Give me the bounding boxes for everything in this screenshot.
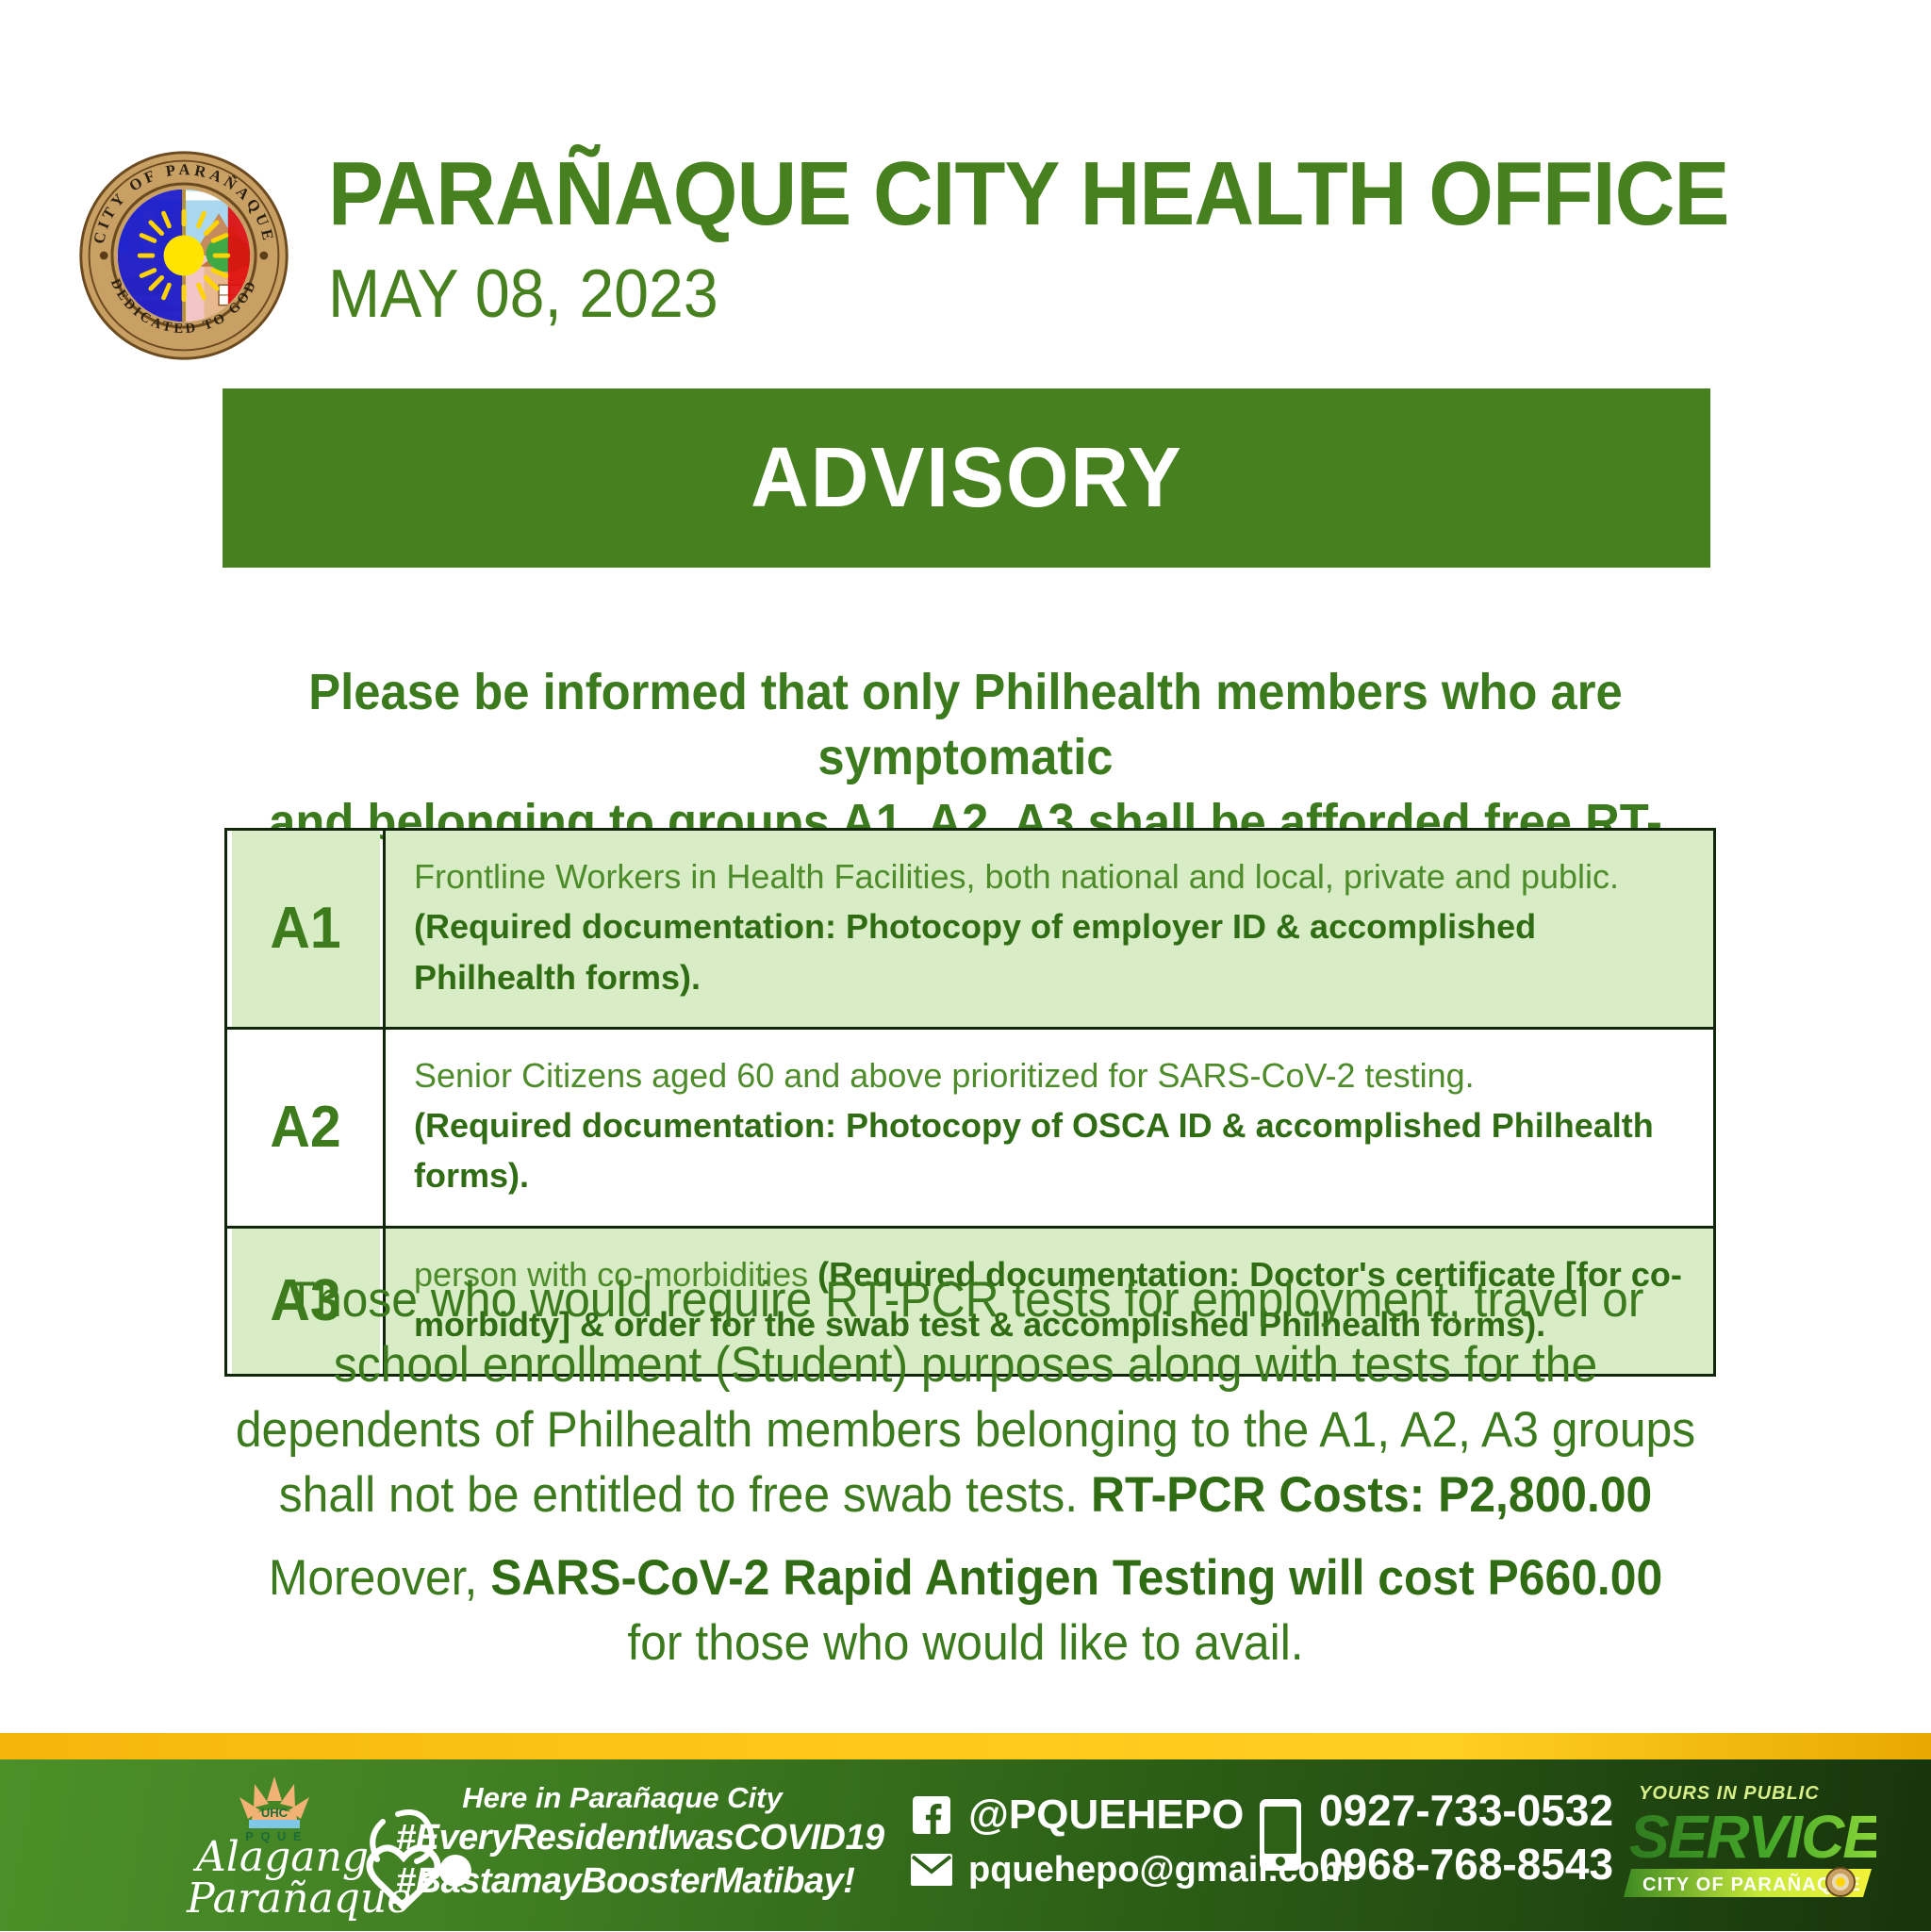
exclusion-paragraph: Those who would require RT-PCR tests for… xyxy=(218,1268,1714,1528)
hashtag-basta-may-booster: #BastamayBoosterMatibay! xyxy=(396,1859,849,1903)
city-seal-icon: CITY OF PARAÑAQUE DEDICATED TO GOD xyxy=(74,143,294,368)
phone-number-2: 0968-768-8543 xyxy=(1319,1840,1613,1889)
mobile-phone-icon xyxy=(1259,1798,1302,1876)
phone-numbers: 0927-733-0532 0968-768-8543 xyxy=(1319,1784,1613,1891)
envelope-icon xyxy=(910,1848,953,1891)
footer-gold-stripe xyxy=(0,1733,1931,1759)
table-row: A2 Senior Citizens aged 60 and above pri… xyxy=(226,1028,1715,1227)
service-tagline: YOURS IN PUBLIC xyxy=(1639,1783,1820,1804)
uhc-label: UHC xyxy=(261,1806,289,1820)
page-header: CITY OF PARAÑAQUE DEDICATED TO GOD PARAÑ… xyxy=(0,0,1931,377)
antigen-cost-text: SARS-CoV-2 Rapid Antigen Testing will co… xyxy=(490,1550,1662,1606)
footer-content: UHC P Q U E Alagang Parañaque Here in Pa… xyxy=(0,1759,1931,1931)
advisory-banner: ADVISORY xyxy=(223,388,1710,568)
group-desc-a2-regular: Senior Citizens aged 60 and above priori… xyxy=(414,1056,1475,1095)
service-logo-icon: YOURS IN PUBLIC SERVICE CITY OF PARAÑAQU… xyxy=(1622,1775,1876,1916)
advisory-banner-label: ADVISORY xyxy=(751,430,1183,527)
hashtag-every-resident: #EveryResidentIwasCOVID19 xyxy=(396,1816,849,1859)
antigen-paragraph-suffix: for those who would like to avail. xyxy=(627,1615,1303,1671)
facebook-handle: @PQUEHEPO xyxy=(968,1792,1244,1839)
antigen-paragraph: Moreover, SARS-CoV-2 Rapid Antigen Testi… xyxy=(218,1546,1714,1676)
header-title-block: PARAÑAQUE CITY HEALTH OFFICE MAY 08, 202… xyxy=(328,149,1851,328)
advisory-date: MAY 08, 2023 xyxy=(328,260,1729,328)
service-seal-icon xyxy=(1826,1868,1855,1896)
footer-phones: 0927-733-0532 0968-768-8543 xyxy=(1259,1784,1613,1891)
group-code-a2: A2 xyxy=(230,1028,381,1227)
footer-hashtags: Here in Parañaque City #EveryResidentIwa… xyxy=(396,1780,849,1904)
intro-line-1: Please be informed that only Philhealth … xyxy=(235,660,1695,790)
group-desc-a1: Frontline Workers in Health Facilities, … xyxy=(385,830,1715,1029)
group-desc-a2-bold: (Required documentation: Photocopy of OS… xyxy=(414,1106,1654,1195)
facebook-icon xyxy=(910,1793,953,1837)
city-seal-logo: CITY OF PARAÑAQUE DEDICATED TO GOD xyxy=(74,143,294,368)
yours-in-public-service-logo: YOURS IN PUBLIC SERVICE CITY OF PARAÑAQU… xyxy=(1622,1775,1876,1916)
service-word: SERVICE xyxy=(1629,1803,1876,1871)
phone-number-1: 0927-733-0532 xyxy=(1319,1786,1613,1835)
group-desc-a1-bold: (Required documentation: Photocopy of em… xyxy=(414,907,1536,996)
rtpcr-cost-text: RT-PCR Costs: P2,800.00 xyxy=(1091,1467,1652,1523)
group-desc-a1-regular: Frontline Workers in Health Facilities, … xyxy=(414,857,1619,896)
table-row: A1 Frontline Workers in Health Facilitie… xyxy=(226,830,1715,1029)
page-title: PARAÑAQUE CITY HEALTH OFFICE xyxy=(328,149,1729,239)
group-desc-a2: Senior Citizens aged 60 and above priori… xyxy=(385,1028,1715,1227)
hashtag-intro-line: Here in Parañaque City xyxy=(396,1780,849,1816)
group-code-a1: A1 xyxy=(230,830,381,1029)
antigen-paragraph-prefix: Moreover, xyxy=(269,1550,490,1606)
page-footer: UHC P Q U E Alagang Parañaque Here in Pa… xyxy=(0,1733,1931,1931)
